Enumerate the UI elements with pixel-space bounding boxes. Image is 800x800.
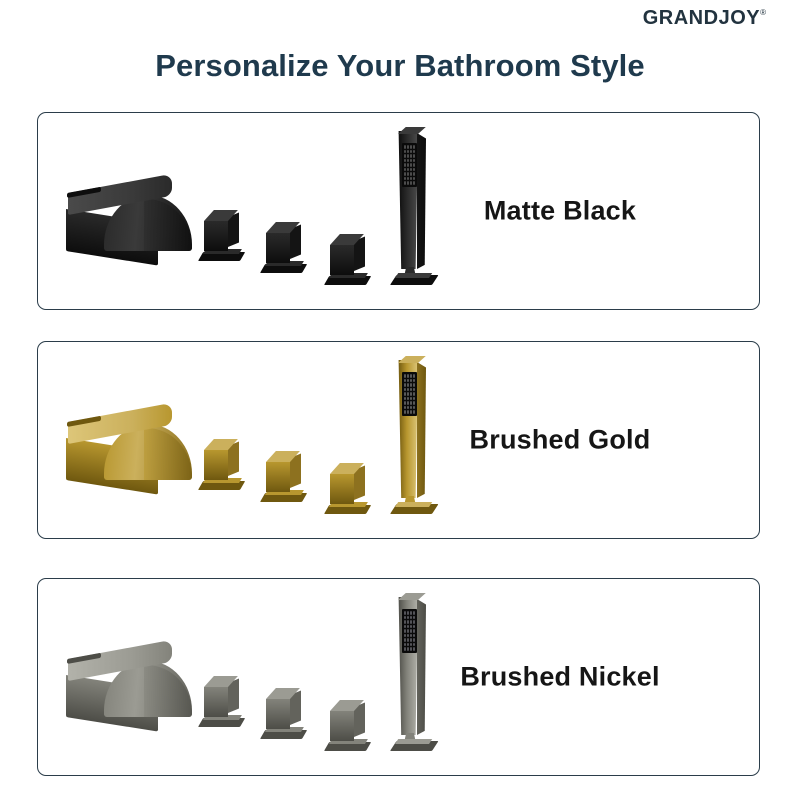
product-image	[48, 579, 448, 775]
finish-label: Brushed Gold	[395, 425, 725, 456]
waterfall-spout	[66, 173, 196, 258]
faucet-handle	[260, 683, 306, 739]
handle-cube-front	[204, 687, 228, 717]
registered-trademark-icon: ®	[760, 9, 766, 17]
handle-cube-front	[266, 233, 290, 263]
finish-label: Brushed Nickel	[395, 662, 725, 693]
product-stage	[48, 342, 448, 538]
spout-shadow	[144, 665, 192, 717]
product-image	[48, 113, 448, 309]
faucet-handle	[324, 229, 370, 285]
page-title: Personalize Your Bathroom Style	[0, 48, 800, 84]
wand-spray-face	[402, 609, 417, 653]
handle-cube-front	[330, 245, 354, 275]
handle-cube-front	[330, 474, 354, 504]
faucet-handle	[198, 205, 244, 261]
finish-option-card[interactable]: Brushed Gold	[37, 341, 760, 539]
wand-spray-face	[402, 143, 417, 187]
product-stage	[48, 113, 448, 309]
finish-option-card[interactable]: Brushed Nickel	[37, 578, 760, 776]
wand-column-top	[398, 356, 426, 363]
handle-cube-front	[266, 462, 290, 492]
product-stage	[48, 579, 448, 775]
handle-cube-front	[330, 711, 354, 741]
spout-shadow	[144, 428, 192, 480]
faucet-handle	[260, 446, 306, 502]
wand-base-top	[395, 273, 432, 278]
spout-shadow	[144, 199, 192, 251]
waterfall-spout	[66, 639, 196, 724]
faucet-handle	[324, 458, 370, 514]
brand-name: GRANDJOY	[643, 8, 760, 28]
faucet-handle	[324, 695, 370, 751]
wand-column-top	[398, 593, 426, 600]
faucet-handle	[198, 434, 244, 490]
handle-cube-front	[204, 221, 228, 251]
product-image	[48, 342, 448, 538]
waterfall-spout	[66, 402, 196, 487]
faucet-handle	[198, 671, 244, 727]
wand-base-top	[395, 739, 432, 744]
faucet-handle	[260, 217, 306, 273]
handle-cube-front	[266, 699, 290, 729]
finish-option-card[interactable]: Matte Black	[37, 112, 760, 310]
wand-spray-face	[402, 372, 417, 416]
finish-label: Matte Black	[395, 196, 725, 227]
wand-column-top	[398, 127, 426, 134]
handle-cube-front	[204, 450, 228, 480]
brand-logo: GRANDJOY ®	[643, 8, 766, 28]
wand-base-top	[395, 502, 432, 507]
